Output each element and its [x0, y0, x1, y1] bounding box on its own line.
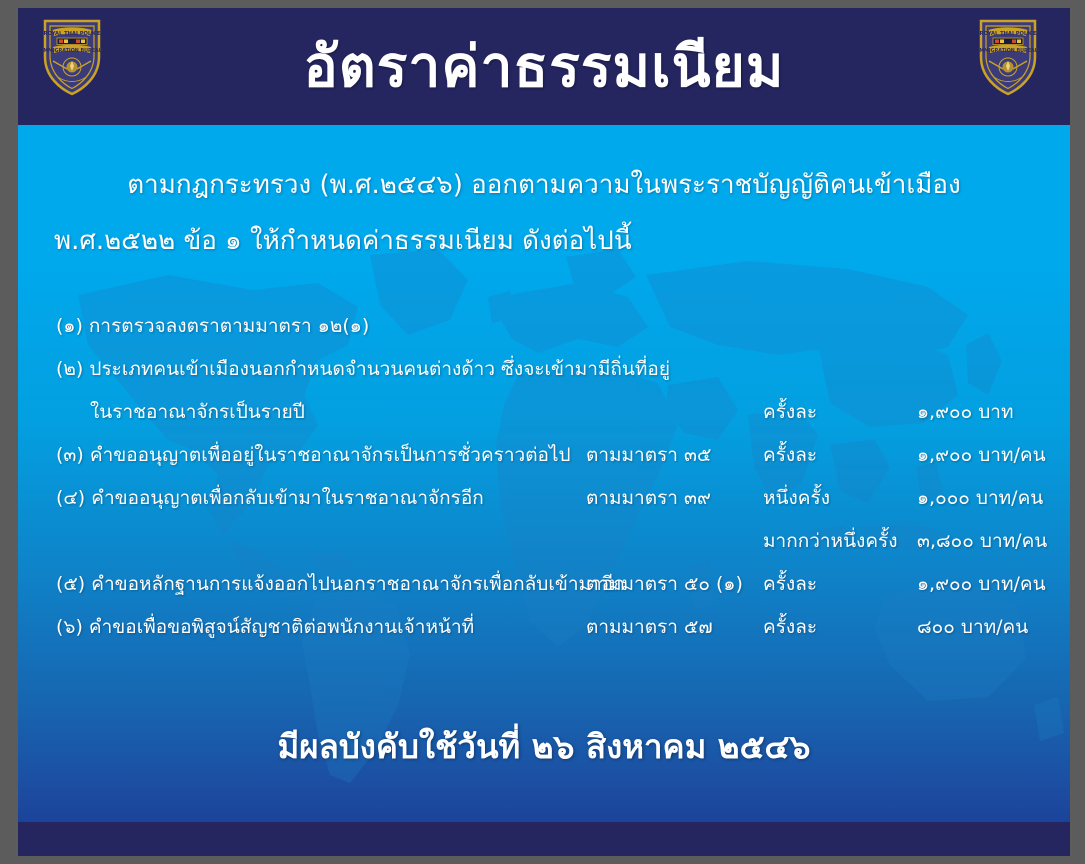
fee-section: ตามมาตรา ๕๗ [586, 606, 713, 649]
fee-frequency: หนึ่งครั้ง [763, 477, 830, 520]
fee-description: ในราชอาณาจักรเป็นรายปี [90, 391, 305, 434]
fee-frequency: ครั้งละ [763, 434, 817, 477]
royal-thai-police-immigration-bureau-badge-right: ROYAL THAI POLICE IMMIGRATION BUREAU [977, 17, 1039, 97]
table-row: (๔) คำขออนุญาตเพื่อกลับเข้ามาในราชอาณาจั… [18, 477, 1070, 520]
table-row: (๕) คำขอหลักฐานการแจ้งออกไปนอกราชอาณาจัก… [18, 563, 1070, 606]
fee-poster: ROYAL THAI POLICE IMMIGRATION BUREAU อัต… [18, 8, 1070, 856]
fee-section: ตามมาตรา ๕๐ (๑) [586, 563, 743, 606]
poster-header: ROYAL THAI POLICE IMMIGRATION BUREAU อัต… [18, 8, 1070, 125]
fee-amount: ๑,๐๐๐ บาท/คน [917, 477, 1043, 520]
fee-table: (๑) การตรวจลงตราตามมาตรา ๑๒(๑) (๒) ประเภ… [18, 305, 1070, 649]
fee-amount: ๘๐๐ บาท/คน [917, 606, 1028, 649]
fee-description: (๒) ประเภทคนเข้าเมืองนอกกำหนดจำนวนคนต่าง… [56, 348, 670, 391]
page-title: อัตราค่าธรรมเนียม [18, 20, 1070, 115]
fee-amount: ๓,๘๐๐ บาท/คน [917, 520, 1047, 563]
table-row: มากกว่าหนึ่งครั้ง ๓,๘๐๐ บาท/คน [18, 520, 1070, 563]
fee-amount: ๑,๙๐๐ บาท [917, 391, 1014, 434]
poster-body: ตามกฎกระทรวง (พ.ศ.๒๕๔๖) ออกตามความในพระร… [18, 125, 1070, 856]
fee-section: ตามมาตรา ๓๙ [586, 477, 711, 520]
fee-description: (๓) คำขออนุญาตเพื่ออยู่ในราชอาณาจักรเป็น… [56, 434, 571, 477]
table-row: ในราชอาณาจักรเป็นรายปี ครั้งละ ๑,๙๐๐ บาท [18, 391, 1070, 434]
fee-description: (๕) คำขอหลักฐานการแจ้งออกไปนอกราชอาณาจัก… [56, 563, 625, 606]
intro-paragraph: ตามกฎกระทรวง (พ.ศ.๒๕๔๖) ออกตามความในพระร… [18, 157, 1070, 269]
table-row: (๓) คำขออนุญาตเพื่ออยู่ในราชอาณาจักรเป็น… [18, 434, 1070, 477]
fee-amount: ๑,๙๐๐ บาท/คน [917, 563, 1046, 606]
intro-line-1: ตามกฎกระทรวง (พ.ศ.๒๕๔๖) ออกตามความในพระร… [44, 157, 1044, 213]
fee-frequency: มากกว่าหนึ่งครั้ง [763, 520, 898, 563]
fee-description: (๑) การตรวจลงตราตามมาตรา ๑๒(๑) [56, 305, 369, 348]
fee-description: (๖) คำขอเพื่อขอพิสูจน์สัญชาติต่อพนักงานเ… [56, 606, 474, 649]
table-row: (๑) การตรวจลงตราตามมาตรา ๑๒(๑) [18, 305, 1070, 348]
table-row: (๖) คำขอเพื่อขอพิสูจน์สัญชาติต่อพนักงานเ… [18, 606, 1070, 649]
svg-text:ROYAL THAI POLICE: ROYAL THAI POLICE [979, 31, 1036, 37]
fee-frequency: ครั้งละ [763, 563, 817, 606]
fee-description: (๔) คำขออนุญาตเพื่อกลับเข้ามาในราชอาณาจั… [56, 477, 484, 520]
effective-date-notice: มีผลบังคับใช้วันที่ ๒๖ สิงหาคม ๒๕๔๖ [18, 720, 1070, 773]
table-row: (๒) ประเภทคนเข้าเมืองนอกกำหนดจำนวนคนต่าง… [18, 348, 1070, 391]
footer-bar [18, 822, 1070, 856]
intro-line-2: พ.ศ.๒๕๒๒ ข้อ ๑ ให้กำหนดค่าธรรมเนียม ดังต… [44, 213, 1044, 269]
svg-text:IMMIGRATION BUREAU: IMMIGRATION BUREAU [978, 48, 1039, 54]
fee-amount: ๑,๙๐๐ บาท/คน [917, 434, 1046, 477]
fee-frequency: ครั้งละ [763, 606, 817, 649]
fee-frequency: ครั้งละ [763, 391, 817, 434]
fee-section: ตามมาตรา ๓๕ [586, 434, 711, 477]
